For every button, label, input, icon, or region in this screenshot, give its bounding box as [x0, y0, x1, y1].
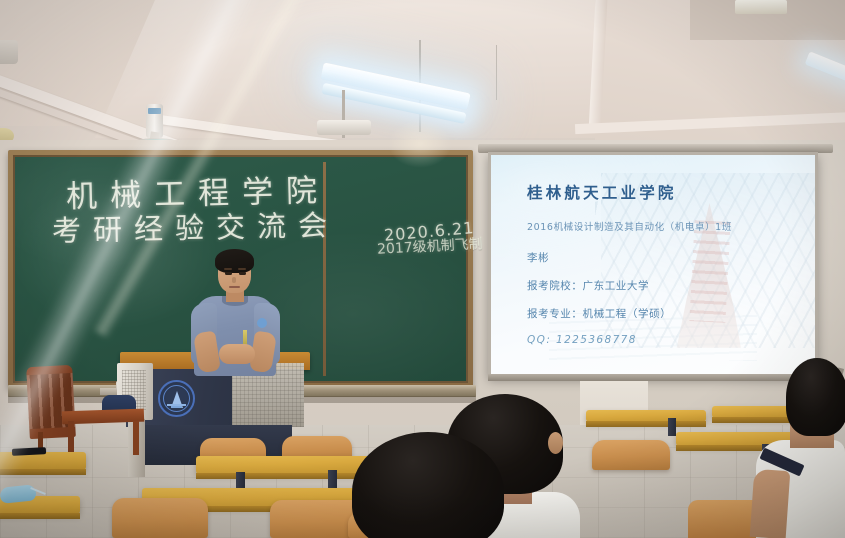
hanging-wire-2 [496, 45, 497, 100]
speaker-hands [219, 344, 255, 364]
projection-screen-surface: 桂林航天工业学院 2016机械设计制造及其自动化（机电卓）1班 李彬 报考院校：… [491, 155, 815, 374]
chair-back-front-left [112, 498, 208, 538]
ceiling-light-panel [735, 0, 787, 14]
classroom-photo: 机械工程学院 考研经验交流会 2020.6.21 2017级机制飞制 桂林航天工… [0, 0, 845, 538]
projector [317, 120, 371, 135]
student-right-arm [750, 469, 791, 538]
speaker-eyebrow-right [238, 268, 246, 270]
emblem-bar-2 [171, 406, 183, 408]
desk-edge [196, 473, 380, 479]
blackboard-heading-line2: 考研经验交流会 [52, 202, 340, 250]
chair-leg-right [133, 421, 139, 455]
desk-edge [586, 421, 706, 427]
slide-title: 桂林航天工业学院 [527, 181, 815, 203]
projection-screen-bottom-bar [488, 374, 818, 381]
projection-screen: 桂林航天工业学院 2016机械设计制造及其自动化（机电卓）1班 李彬 报考院校：… [488, 152, 818, 377]
desk-edge [0, 469, 86, 475]
wall-vent-icon [0, 40, 18, 64]
speaker-shirt-logo [257, 318, 267, 328]
speaker-mouth [229, 286, 240, 288]
slide-target-school: 报考院校：广东工业大学 [527, 278, 815, 293]
speaker-nose [232, 277, 236, 283]
desk-row3-left [586, 410, 706, 422]
speaker-hair [215, 249, 254, 273]
chair-back-right-mid [592, 440, 670, 470]
speaker-eyebrow-left [224, 268, 232, 270]
desk-row2-center [196, 456, 380, 474]
speaker-eye-left [225, 272, 232, 275]
slide-text-block: 桂林航天工业学院 2016机械设计制造及其自动化（机电卓）1班 李彬 报考院校：… [491, 155, 815, 374]
desk-edge [0, 513, 80, 519]
desk-leg [668, 418, 676, 436]
university-emblem-icon [158, 380, 195, 417]
slide-subtitle-class: 2016机械设计制造及其自动化（机电卓）1班 [527, 219, 815, 233]
speaker-eye-right [239, 272, 246, 275]
slide-qq-contact: QQ: 1225368778 [527, 334, 815, 346]
slide-target-major: 报考专业：机械工程（学硕） [527, 306, 815, 321]
student-center-ear [548, 432, 563, 454]
slide-presenter-name: 李彬 [527, 250, 815, 265]
student-head-right [786, 358, 845, 436]
